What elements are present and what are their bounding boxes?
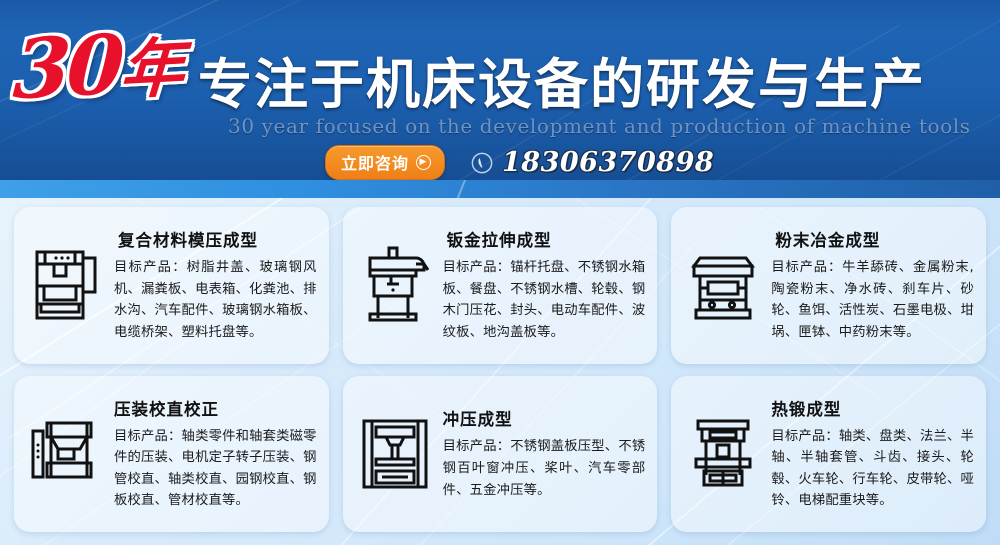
page-title: 专注于机床设备的研发与生产	[198, 40, 926, 119]
card-text: 钣金拉伸成型 目标产品：锚杆托盘、不锈钢水箱板、餐盘、不锈钢水槽、轮毂、钢木门压…	[443, 227, 646, 343]
hot-forging-press-icon	[681, 408, 765, 500]
card-title: 压装校直校正	[114, 396, 317, 420]
card-description: 目标产品：树脂井盖、玻璃钢风机、漏粪板、电表箱、化粪池、排水沟、汽车配件、玻璃钢…	[114, 257, 317, 343]
phone-number: 18306370898	[502, 147, 714, 178]
service-card-grid: 复合材料模压成型 目标产品：树脂井盖、玻璃钢风机、漏粪板、电表箱、化粪池、排水沟…	[0, 198, 1000, 545]
card-description: 目标产品：锚杆托盘、不锈钢水箱板、餐盘、不锈钢水槽、轮毂、钢木门压花、封头、电动…	[443, 257, 646, 343]
card-description: 目标产品：不锈钢盖板压型、不锈钢百叶窗冲压、桨叶、汽车零部件、五金冲压等。	[443, 436, 646, 501]
anniversary-logo: 30年	[11, 21, 182, 112]
promo-banner: 30年 专注于机床设备的研发与生产 30 year focused on the…	[0, 0, 1000, 545]
service-card-hot-forging[interactable]: 热锻成型 目标产品：轴类、盘类、法兰、半轴、半轴套管、斗齿、接头、轮毂、火车轮、…	[671, 376, 986, 533]
card-text: 热锻成型 目标产品：轴类、盘类、法兰、半轴、半轴套管、斗齿、接头、轮毂、火车轮、…	[771, 396, 974, 512]
service-card-sheet-metal-drawing[interactable]: 钣金拉伸成型 目标产品：锚杆托盘、不锈钢水箱板、餐盘、不锈钢水槽、轮毂、钢木门压…	[343, 207, 658, 364]
card-text: 复合材料模压成型 目标产品：树脂井盖、玻璃钢风机、漏粪板、电表箱、化粪池、排水沟…	[114, 227, 317, 343]
cta-row: 立即咨询 ▶ 18306370898	[325, 145, 714, 180]
anniversary-number: 30	[11, 17, 123, 118]
powder-metallurgy-press-icon	[681, 239, 765, 331]
card-text: 压装校直校正 目标产品：轴类零件和轴套类磁零件的压装、电机定子转子压装、钢管校直…	[114, 396, 317, 512]
phone-icon	[471, 152, 493, 174]
service-card-press-fit-straightening[interactable]: 压装校直校正 目标产品：轴类零件和轴套类磁零件的压装、电机定子转子压装、钢管校直…	[14, 376, 329, 533]
compression-molding-machine-icon	[24, 239, 108, 331]
page-subtitle: 30 year focused on the development and p…	[228, 114, 971, 138]
card-title: 冲压成型	[443, 406, 646, 430]
card-title: 复合材料模压成型	[114, 227, 317, 251]
stamping-press-icon	[353, 408, 437, 500]
card-description: 目标产品：轴类、盘类、法兰、半轴、半轴套管、斗齿、接头、轮毂、火车轮、行车轮、皮…	[771, 426, 974, 512]
service-card-composite-molding[interactable]: 复合材料模压成型 目标产品：树脂井盖、玻璃钢风机、漏粪板、电表箱、化粪池、排水沟…	[14, 207, 329, 364]
sheet-metal-drawing-press-icon	[353, 239, 437, 331]
press-fit-straightening-machine-icon	[24, 408, 108, 500]
play-arrow-icon: ▶	[416, 155, 431, 170]
consult-now-button[interactable]: 立即咨询 ▶	[325, 145, 445, 180]
card-title: 热锻成型	[771, 396, 974, 420]
cards-section: 复合材料模压成型 目标产品：树脂井盖、玻璃钢风机、漏粪板、电表箱、化粪池、排水沟…	[0, 198, 1000, 545]
banner-header: 30年 专注于机床设备的研发与生产 30 year focused on the…	[0, 0, 1000, 180]
service-card-stamping[interactable]: 冲压成型 目标产品：不锈钢盖板压型、不锈钢百叶窗冲压、桨叶、汽车零部件、五金冲压…	[343, 376, 658, 533]
consult-now-label: 立即咨询	[341, 150, 409, 174]
header-divider-band	[0, 180, 1000, 198]
card-title: 粉末冶金成型	[771, 227, 974, 251]
card-text: 冲压成型 目标产品：不锈钢盖板压型、不锈钢百叶窗冲压、桨叶、汽车零部件、五金冲压…	[443, 406, 646, 501]
card-title: 钣金拉伸成型	[443, 227, 646, 251]
card-text: 粉末冶金成型 目标产品：牛羊舔砖、金属粉末,陶瓷粉末、净水砖、刹车片、砂轮、鱼饵…	[771, 227, 974, 343]
service-card-powder-metallurgy[interactable]: 粉末冶金成型 目标产品：牛羊舔砖、金属粉末,陶瓷粉末、净水砖、刹车片、砂轮、鱼饵…	[671, 207, 986, 364]
card-description: 目标产品：牛羊舔砖、金属粉末,陶瓷粉末、净水砖、刹车片、砂轮、鱼饵、活性炭、石墨…	[771, 257, 974, 343]
phone-contact[interactable]: 18306370898	[471, 147, 714, 178]
anniversary-unit: 年	[118, 31, 182, 109]
card-description: 目标产品：轴类零件和轴套类磁零件的压装、电机定子转子压装、钢管校直、轴类校直、园…	[114, 426, 317, 512]
